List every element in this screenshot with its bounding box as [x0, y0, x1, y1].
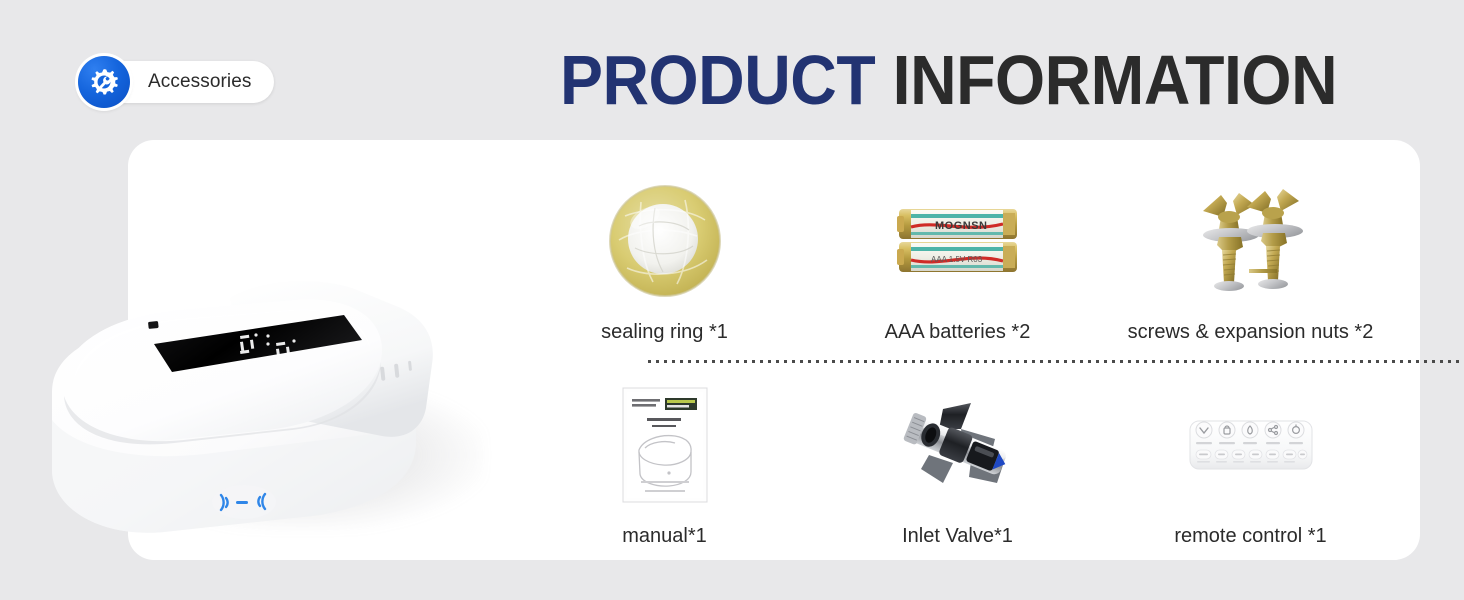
accessory-label: screws & expansion nuts *2 [1128, 315, 1374, 344]
page-title-part1: PRODUCT [560, 41, 875, 119]
accessory-label: Inlet Valve*1 [902, 519, 1013, 548]
page-title-part2: INFORMATION [875, 41, 1337, 119]
accessory-item-aaa-batteries: MOGNSN AAA 1.5V R03 [811, 166, 1104, 344]
toilet-illustration [44, 140, 514, 560]
accessory-item-remote-control: remote control *1 [1104, 370, 1397, 548]
accessories-badge: Accessories [78, 56, 130, 108]
accessories-grid: sealing ring *1 [518, 158, 1398, 548]
accessory-label: remote control *1 [1174, 519, 1326, 548]
aaa-batteries-art: MOGNSN AAA 1.5V R03 [811, 166, 1104, 315]
accessories-row-2: manual*1 [518, 370, 1398, 548]
section-divider [648, 360, 1464, 363]
gear-wrench-icon [78, 56, 130, 108]
screws-expansion-nuts-art [1104, 166, 1397, 315]
accessories-row-1: sealing ring *1 [518, 166, 1398, 344]
inlet-valve-art [811, 370, 1104, 519]
product-info-card: sealing ring *1 [128, 140, 1420, 560]
smart-toilet-photo [44, 140, 514, 560]
accessory-item-screws-expansion-nuts: screws & expansion nuts *2 [1104, 166, 1397, 344]
remote-control-art [1104, 370, 1397, 519]
accessory-label: sealing ring *1 [601, 315, 728, 344]
accessory-label: manual*1 [622, 519, 707, 548]
accessories-badge-label: Accessories [148, 71, 252, 93]
svg-text:AAA 1.5V R03: AAA 1.5V R03 [931, 255, 983, 264]
accessory-label: AAA batteries *2 [885, 315, 1031, 344]
accessory-item-inlet-valve: Inlet Valve*1 [811, 370, 1104, 548]
svg-text:MOGNSN: MOGNSN [935, 220, 988, 232]
manual-art [518, 370, 811, 519]
sealing-ring-art [518, 166, 811, 315]
accessory-item-manual: manual*1 [518, 370, 811, 548]
page-title: PRODUCT INFORMATION [560, 40, 1337, 120]
accessory-item-sealing-ring: sealing ring *1 [518, 166, 811, 344]
